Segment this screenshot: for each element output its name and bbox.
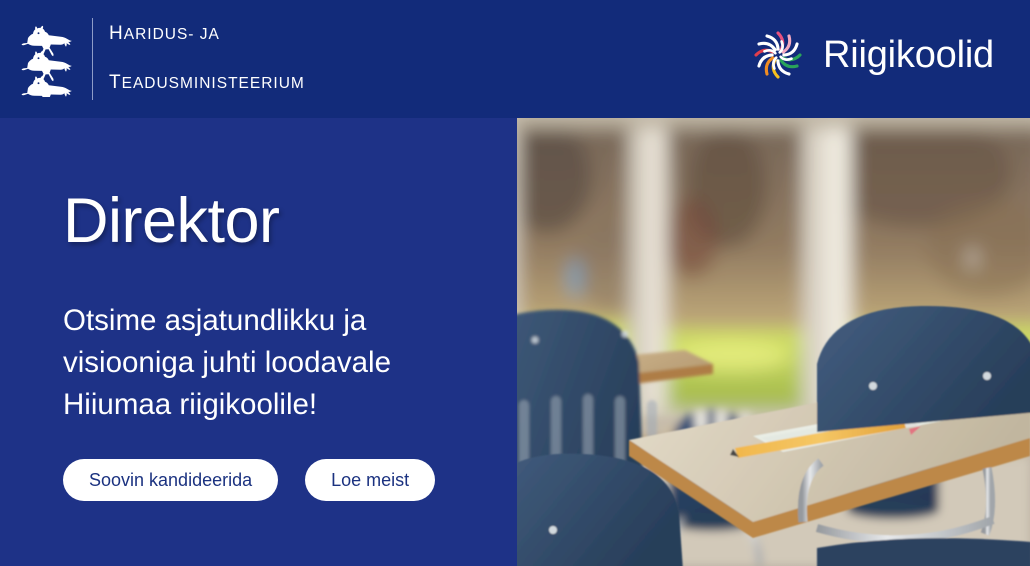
hero-subheadline: Otsime asjatundlikku ja visiooniga juhti… [63, 300, 458, 426]
classroom-photo [517, 118, 1030, 566]
apply-button[interactable]: Soovin kandideerida [63, 459, 278, 501]
riigikoolid-burst-icon [747, 24, 809, 86]
cta-button-group: Soovin kandideerida Loe meist [63, 459, 435, 501]
hero-text-panel: Direktor Otsime asjatundlikku ja visioon… [0, 118, 517, 566]
riigikoolid-wordmark: Riigikoolid [823, 36, 994, 74]
brand-divider [92, 18, 93, 100]
read-more-button[interactable]: Loe meist [305, 459, 435, 501]
ministry-brand[interactable]: Haridus- ja Teadusministeerium [18, 18, 305, 100]
ministry-name-line-2: Teadusministeerium [109, 71, 305, 96]
ministry-name: Haridus- ja Teadusministeerium [109, 0, 305, 120]
riigikoolid-logo[interactable]: Riigikoolid [747, 24, 994, 86]
ministry-name-line-1: Haridus- ja [109, 22, 305, 47]
hero-banner: Haridus- ja Teadusministeerium [0, 0, 1030, 566]
page-title: Direktor [63, 189, 280, 253]
estonian-coat-of-arms-icon [18, 21, 80, 97]
site-header: Haridus- ja Teadusministeerium [0, 0, 1030, 118]
